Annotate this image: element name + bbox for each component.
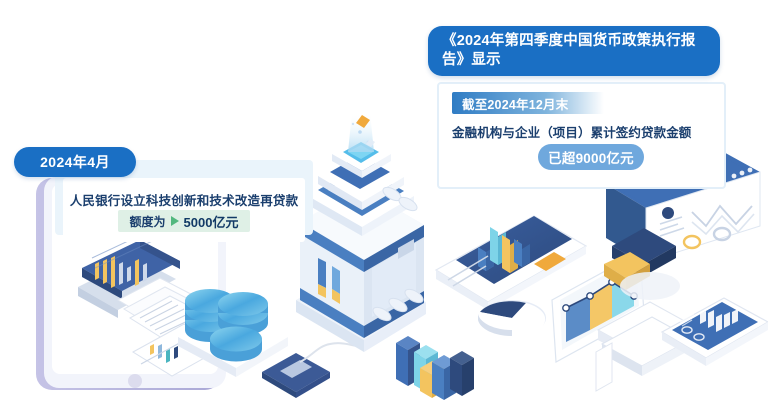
left-policy-text: 人民银行设立科技创新和技术改造再贷款 — [63, 190, 305, 209]
report-title-badge: 《2024年第四季度中国货币政策执行报告》显示 — [428, 26, 720, 76]
left-quota-highlight: 额度为 5000亿元 — [118, 210, 250, 232]
central-server-tower — [296, 137, 426, 352]
bank-card — [262, 353, 330, 398]
report-description-text: 金融机构与企业（项目）累计签约贷款金额 — [452, 122, 710, 141]
isometric-bar-chart — [396, 336, 474, 400]
quota-label: 额度为 — [130, 213, 166, 230]
report-amount-pill: 已超9000亿元 — [538, 144, 644, 170]
light-beam — [348, 112, 375, 152]
left-date-badge: 2024年4月 — [14, 147, 136, 177]
side-document-panel — [596, 343, 612, 391]
quota-value: 5000亿元 — [184, 212, 239, 231]
infographic-canvas: 2024年4月 人民银行设立科技创新和技术改造再贷款 额度为 5000亿元 《2… — [0, 0, 768, 402]
report-period-badge: 截至2024年12月末 — [452, 92, 604, 114]
triangle-right-icon — [171, 216, 179, 226]
coin-single — [210, 327, 262, 362]
pie-chart-small — [477, 300, 546, 337]
